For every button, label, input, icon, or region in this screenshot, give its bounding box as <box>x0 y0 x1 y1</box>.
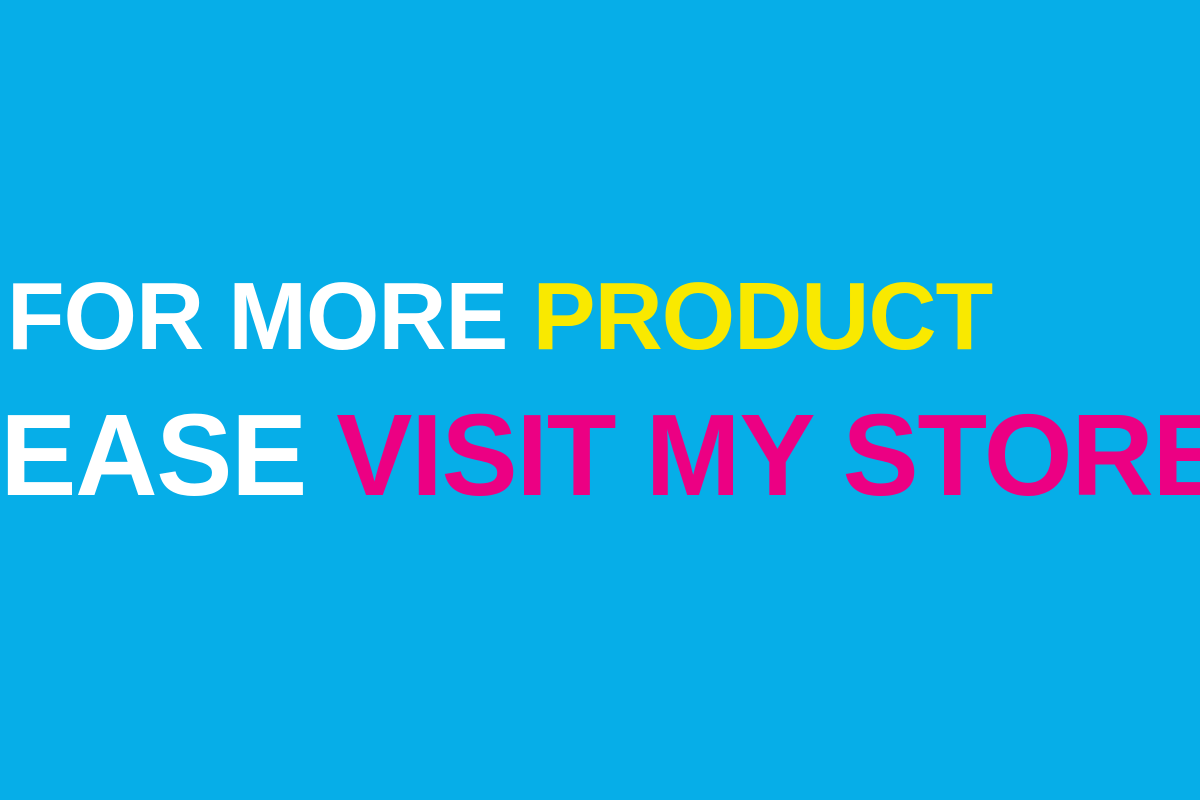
headline-line-1-white-text: FOR MORE <box>7 263 533 370</box>
headline-line-1: FOR MORE PRODUCT <box>0 269 1189 365</box>
headline-line-2-white-text: PLEASE <box>0 390 336 520</box>
headline-line-1-yellow-text: PRODUCT <box>533 263 993 370</box>
promo-banner: FOR MORE PRODUCT PLEASE VISIT MY STORE <box>0 0 1200 800</box>
headline-line-2: PLEASE VISIT MY STORE <box>0 397 1200 513</box>
headline-line-2-magenta-text: VISIT MY STORE <box>336 390 1200 520</box>
